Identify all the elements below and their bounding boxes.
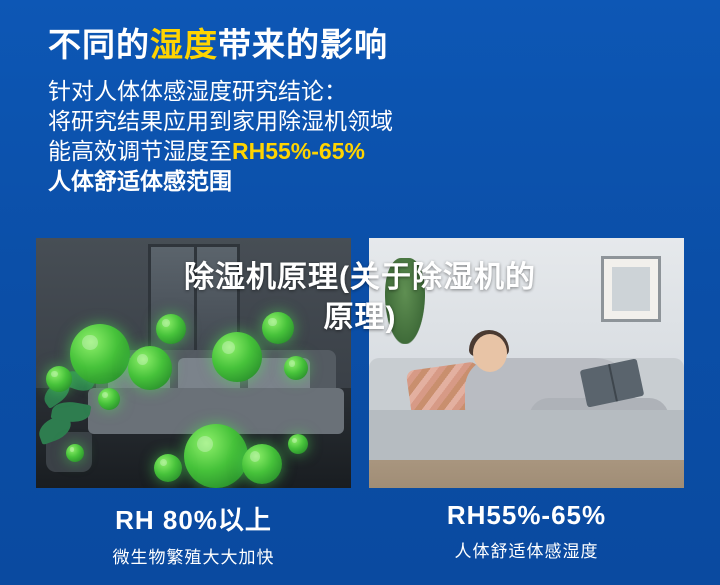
microbe-icon: [284, 356, 308, 380]
potted-plant: [385, 258, 425, 344]
caption-right-title: RH55%-65%: [369, 500, 684, 531]
headline-accent: 湿度: [150, 26, 218, 63]
microbe-icon: [242, 444, 282, 484]
intro-line-3-highlight: RH55%-65%: [232, 138, 365, 164]
microbe-icon: [70, 324, 130, 384]
intro-line-2: 将研究结果应用到家用除湿机领域: [48, 106, 608, 136]
photo-bright-room-woman-reading: [369, 238, 684, 488]
microbe-icon: [288, 434, 308, 454]
wall-picture-inner: [612, 267, 650, 311]
microbe-icon: [128, 346, 172, 390]
intro-line-3-text: 能高效调节湿度至: [48, 138, 232, 164]
caption-right: RH55%-65% 人体舒适体感湿度: [369, 500, 684, 572]
intro-line-1: 针对人体体感湿度研究结论：: [48, 76, 608, 106]
intro-text-block: 针对人体体感湿度研究结论： 将研究结果应用到家用除湿机领域 能高效调节湿度至RH…: [48, 76, 608, 196]
photo-dark-room-with-microbes: [36, 238, 351, 488]
microbe-icon: [66, 444, 84, 462]
wall-picture-frame: [601, 256, 661, 322]
intro-line-3: 能高效调节湿度至RH55%-65%: [48, 136, 608, 166]
microbe-icon: [98, 388, 120, 410]
headline-prefix: 不同的: [48, 26, 150, 63]
poster-root: 不同的湿度带来的影响 针对人体体感湿度研究结论： 将研究结果应用到家用除湿机领域…: [0, 0, 720, 585]
caption-left-title: RH 80%以上: [36, 500, 351, 537]
headline-suffix: 带来的影响: [218, 26, 388, 63]
microbe-icon: [184, 424, 248, 488]
sofa-seat: [369, 410, 684, 460]
caption-left-subtitle: 微生物繁殖大大加快: [36, 543, 351, 568]
microbe-icon: [212, 332, 262, 382]
caption-left: RH 80%以上 微生物繁殖大大加快: [36, 500, 351, 572]
microbe-icon: [262, 312, 294, 344]
caption-row: RH 80%以上 微生物繁殖大大加快 RH55%-65% 人体舒适体感湿度: [36, 500, 684, 572]
photo-row: [36, 238, 684, 488]
person-head: [473, 334, 507, 372]
intro-line-4: 人体舒适体感范围: [48, 166, 608, 196]
page-title: 不同的湿度带来的影响: [48, 18, 388, 66]
microbe-icon: [46, 366, 72, 392]
caption-right-subtitle: 人体舒适体感湿度: [369, 537, 684, 562]
microbe-icon: [154, 454, 182, 482]
microbe-icon: [156, 314, 186, 344]
